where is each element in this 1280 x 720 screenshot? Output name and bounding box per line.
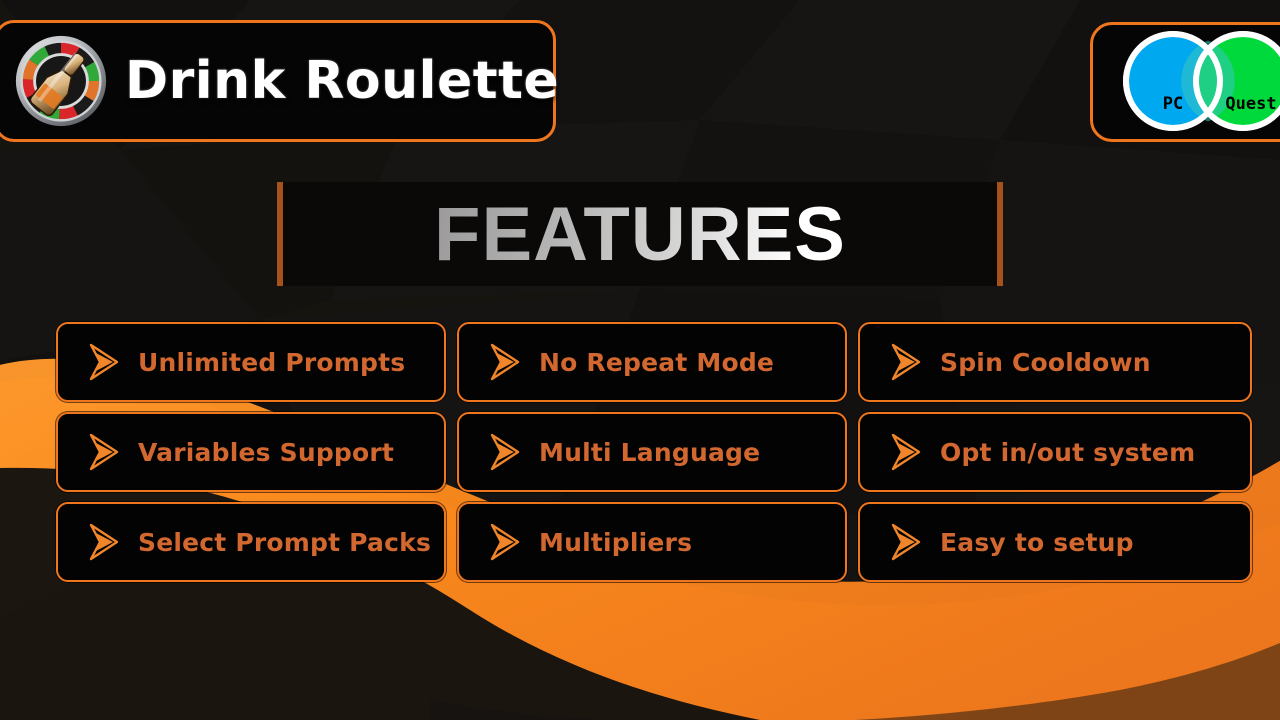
platform-label-pc: PC [1143, 94, 1203, 114]
feature-card[interactable]: Multi Language [457, 412, 847, 492]
section-title: FEATURES [434, 191, 846, 278]
feature-card[interactable]: Select Prompt Packs [56, 502, 446, 582]
feature-card[interactable]: Unlimited Prompts [56, 322, 446, 402]
chevron-arrow-icon [487, 522, 523, 562]
app-title: Drink Roulette [125, 51, 559, 111]
chevron-arrow-icon [487, 342, 523, 382]
feature-card[interactable]: Spin Cooldown [858, 322, 1252, 402]
chevron-arrow-icon [86, 432, 122, 472]
chevron-arrow-icon [487, 432, 523, 472]
app-logo-panel: Drink Roulette [0, 20, 556, 142]
roulette-bottle-logo-icon [13, 33, 109, 129]
feature-card[interactable]: Opt in/out system [858, 412, 1252, 492]
platform-label-quest: Quest [1206, 94, 1280, 114]
feature-card[interactable]: Variables Support [56, 412, 446, 492]
feature-label: Multipliers [539, 528, 692, 557]
feature-card[interactable]: Easy to setup [858, 502, 1252, 582]
feature-label: Multi Language [539, 438, 760, 467]
feature-label: Select Prompt Packs [138, 528, 431, 557]
features-grid: Unlimited Prompts No Repeat Mode Spin Co… [56, 322, 1252, 582]
title-accent-bar-right [997, 182, 1003, 286]
platform-badge-panel: PC Quest [1090, 22, 1280, 142]
section-title-block: FEATURES [277, 182, 1003, 286]
chevron-arrow-icon [86, 342, 122, 382]
slide-canvas: Drink Roulette PC Quest FEATURES Unlimit [0, 0, 1280, 720]
chevron-arrow-icon [888, 432, 924, 472]
feature-label: Variables Support [138, 438, 394, 467]
title-accent-bar-left [277, 182, 283, 286]
feature-label: Easy to setup [940, 528, 1134, 557]
feature-card[interactable]: Multipliers [457, 502, 847, 582]
chevron-arrow-icon [888, 522, 924, 562]
feature-card[interactable]: No Repeat Mode [457, 322, 847, 402]
platform-venn-icon [1093, 25, 1280, 139]
chevron-arrow-icon [86, 522, 122, 562]
feature-label: Spin Cooldown [940, 348, 1151, 377]
feature-label: No Repeat Mode [539, 348, 774, 377]
chevron-arrow-icon [888, 342, 924, 382]
feature-label: Unlimited Prompts [138, 348, 405, 377]
feature-label: Opt in/out system [940, 438, 1195, 467]
